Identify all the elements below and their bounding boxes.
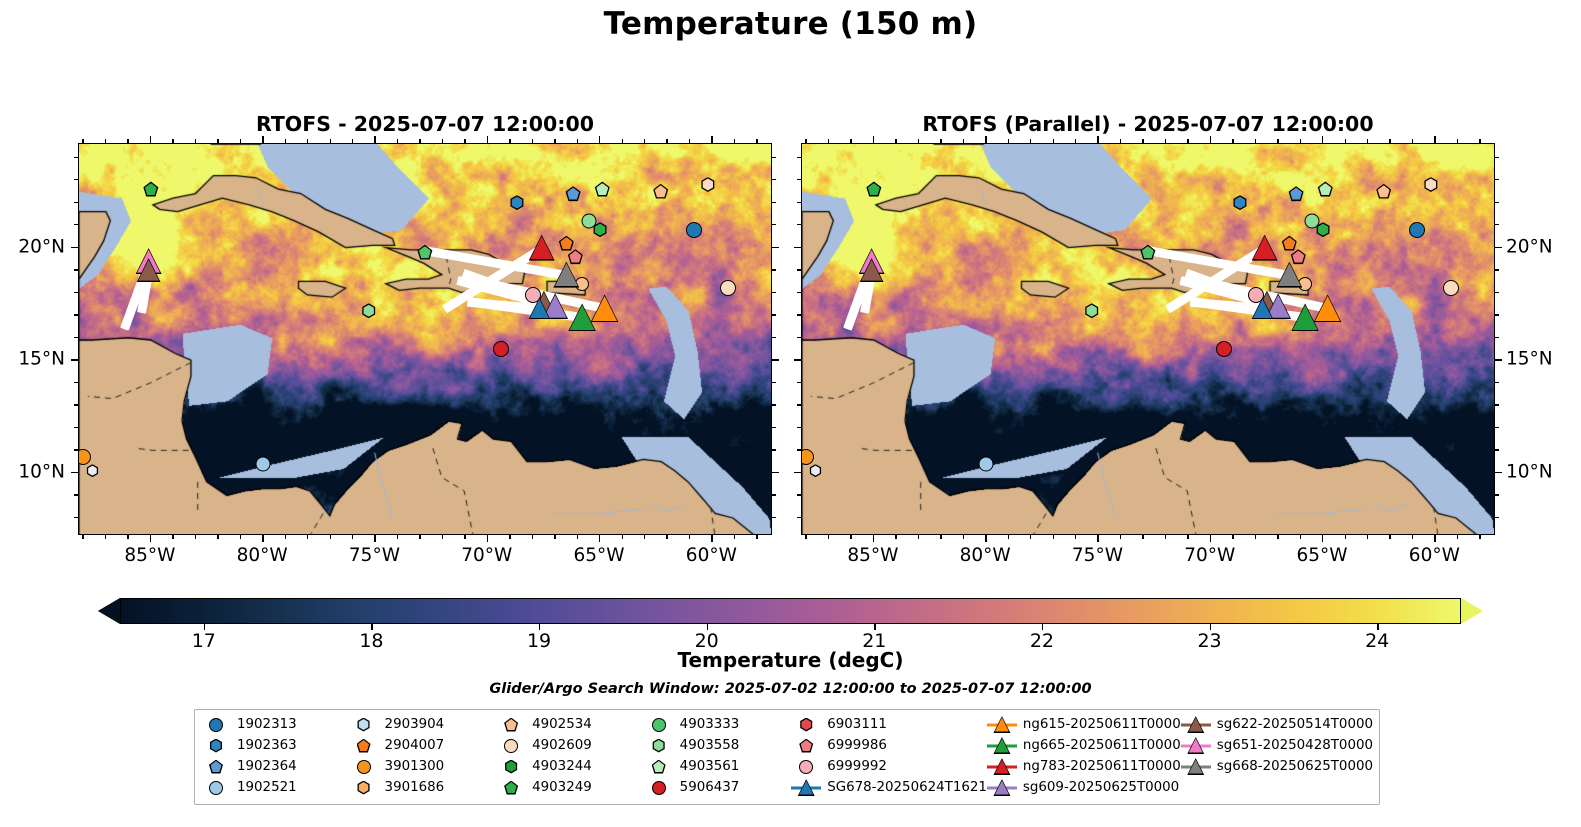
argo-float-marker	[78, 449, 91, 465]
argo-symbol	[644, 778, 674, 798]
ytick-minor-right	[772, 337, 776, 338]
xtick-minor-top	[307, 139, 308, 143]
argo-float-marker	[509, 195, 524, 210]
ytick-minor-left	[797, 269, 801, 270]
xtick-major-top	[985, 136, 986, 143]
ytick-minor-left	[74, 517, 78, 518]
xtick-minor	[963, 535, 964, 539]
ytick-major-right	[772, 359, 779, 360]
legend-box[interactable]: 19023132903904490253449033336903111ng615…	[194, 709, 1380, 805]
legend-entry[interactable]: 1902364	[201, 756, 349, 777]
xtick-label: 65°W	[1297, 545, 1348, 566]
xtick-minor-top	[195, 139, 196, 143]
ytick-minor-right	[1495, 449, 1499, 450]
argo-float-marker	[720, 280, 736, 296]
xtick-minor	[828, 535, 829, 539]
xtick-minor	[1187, 535, 1188, 539]
ytick-minor-left	[74, 224, 78, 225]
legend-entry[interactable]: 4903558	[644, 735, 792, 756]
xtick-label: 80°W	[960, 545, 1011, 566]
ytick-minor-left	[797, 404, 801, 405]
ytick-major-left	[794, 247, 801, 248]
glider-marker	[1314, 294, 1342, 322]
legend-entry[interactable]: sg668-20250625T0000	[1181, 756, 1373, 777]
xtick-minor	[1030, 535, 1031, 539]
xtick-minor	[644, 535, 645, 539]
figure-canvas: Temperature (150 m) RTOFS - 2025-07-07 1…	[0, 0, 1581, 827]
ytick-major-right	[772, 472, 779, 473]
argo-float-marker	[801, 449, 814, 465]
glider-symbol	[791, 778, 821, 798]
xtick-minor	[1142, 535, 1143, 539]
xtick-minor	[419, 535, 420, 539]
legend-entry[interactable]: 4903333	[644, 714, 792, 735]
ytick-minor-left	[797, 449, 801, 450]
xtick-major	[374, 535, 375, 542]
xtick-minor-top	[1187, 139, 1188, 143]
xtick-minor	[940, 535, 941, 539]
glider-marker	[860, 258, 884, 282]
xtick-minor	[689, 535, 690, 539]
xtick-label: 85°W	[124, 545, 175, 566]
legend-label: 6999986	[827, 738, 887, 753]
xtick-label: 60°W	[686, 545, 737, 566]
argo-float-marker	[1232, 195, 1247, 210]
xtick-minor	[1367, 535, 1368, 539]
legend-entry[interactable]: sg609-20250625T0000	[987, 777, 1181, 798]
circle-marker	[652, 781, 666, 795]
argo-float-marker	[809, 464, 822, 477]
triangle-marker	[993, 716, 1010, 733]
xtick-major-top	[1210, 136, 1211, 143]
ytick-label: 10°N	[1506, 461, 1553, 482]
hexagon-marker	[799, 718, 813, 732]
hexagon-marker	[209, 739, 223, 753]
legend-entry[interactable]: 4902534	[496, 714, 644, 735]
argo-symbol	[201, 778, 231, 798]
argo-float-marker	[256, 456, 271, 471]
panel-title-right: RTOFS (Parallel) - 2025-07-07 12:00:00	[801, 112, 1495, 136]
argo-symbol	[349, 715, 379, 735]
glider-marker	[1252, 235, 1278, 261]
xtick-minor-top	[240, 139, 241, 143]
triangle-marker	[993, 737, 1010, 754]
ytick-minor-left	[74, 427, 78, 428]
legend-entry[interactable]: 2904007	[349, 735, 497, 756]
xtick-minor-top	[1300, 139, 1301, 143]
glider-symbol	[987, 715, 1017, 735]
map-panel-rtofs-parallel[interactable]	[801, 143, 1495, 535]
xtick-minor-top	[1120, 139, 1121, 143]
panel-title-left: RTOFS - 2025-07-07 12:00:00	[78, 112, 772, 136]
xtick-major-top	[262, 136, 263, 143]
ytick-minor-right	[1495, 314, 1499, 315]
argo-float-marker	[866, 182, 881, 197]
xtick-major-top	[873, 136, 874, 143]
argo-float-marker	[86, 464, 99, 477]
xtick-label: 70°W	[1184, 545, 1235, 566]
xtick-major	[262, 535, 263, 542]
argo-float-marker	[1376, 184, 1391, 199]
legend-entry[interactable]: 1902521	[201, 777, 349, 798]
xtick-minor	[1120, 535, 1121, 539]
hexagon-marker	[357, 781, 371, 795]
ytick-minor-right	[772, 314, 776, 315]
ytick-minor-left	[74, 292, 78, 293]
ytick-major-left	[71, 247, 78, 248]
argo-symbol	[644, 736, 674, 756]
xtick-minor	[1345, 535, 1346, 539]
glider-marker	[591, 294, 619, 322]
legend-entry[interactable]: 4903561	[644, 756, 792, 777]
legend-entry[interactable]: sg651-20250428T0000	[1181, 735, 1373, 756]
xtick-minor-top	[1345, 139, 1346, 143]
ytick-label: 15°N	[1506, 349, 1553, 370]
ytick-minor-right	[1495, 224, 1499, 225]
legend-entry[interactable]: 4903249	[496, 777, 644, 798]
legend-entry[interactable]: ng783-20250611T0000	[987, 756, 1181, 777]
circle-marker	[799, 760, 813, 774]
ytick-minor-left	[74, 269, 78, 270]
xtick-minor	[622, 535, 623, 539]
ytick-minor-left	[797, 202, 801, 203]
ytick-minor-right	[1495, 179, 1499, 180]
xtick-minor	[756, 535, 757, 539]
xtick-minor-top	[756, 139, 757, 143]
argo-float-marker	[1316, 222, 1331, 237]
xtick-minor	[850, 535, 851, 539]
legend-entry[interactable]: 1902363	[201, 735, 349, 756]
glider-symbol	[987, 736, 1017, 756]
argo-float-marker	[1423, 177, 1438, 192]
xtick-minor-top	[666, 139, 667, 143]
ytick-major-right	[1495, 472, 1502, 473]
legend-empty	[1181, 777, 1373, 798]
xtick-minor	[554, 535, 555, 539]
xtick-minor	[397, 535, 398, 539]
xtick-minor	[105, 535, 106, 539]
xtick-major-top	[599, 136, 600, 143]
legend-entry[interactable]: 1902313	[201, 714, 349, 735]
xtick-minor	[1232, 535, 1233, 539]
ytick-minor-right	[1495, 382, 1499, 383]
xtick-label: 65°W	[574, 545, 625, 566]
legend-label: sg668-20250625T0000	[1217, 759, 1373, 774]
legend-entry[interactable]: 6999992	[791, 756, 987, 777]
xtick-minor-top	[330, 139, 331, 143]
xtick-minor	[464, 535, 465, 539]
legend-label: 1902521	[237, 780, 297, 795]
legend-label: 1902363	[237, 738, 297, 753]
ytick-minor-right	[1495, 404, 1499, 405]
glider-marker	[528, 297, 550, 319]
xtick-minor-top	[1479, 139, 1480, 143]
glider-symbol	[987, 757, 1017, 777]
xtick-minor	[1165, 535, 1166, 539]
xtick-minor-top	[82, 139, 83, 143]
ytick-minor-left	[74, 314, 78, 315]
ytick-minor-left	[797, 224, 801, 225]
ytick-minor-left	[74, 337, 78, 338]
triangle-marker	[993, 758, 1010, 775]
pentagon-marker	[652, 760, 666, 774]
platform-markers-left	[79, 144, 771, 534]
legend-entry[interactable]: 5906437	[644, 777, 792, 798]
ytick-minor-right	[772, 157, 776, 158]
xtick-major-top	[1322, 136, 1323, 143]
xtick-label: 75°W	[349, 545, 400, 566]
legend-grid: 19023132903904490253449033336903111ng615…	[201, 714, 1373, 800]
xtick-minor-top	[352, 139, 353, 143]
glider-symbol	[987, 778, 1017, 798]
ytick-major-right	[772, 247, 779, 248]
ytick-major-left	[71, 359, 78, 360]
legend-label: 5906437	[680, 780, 740, 795]
xtick-minor-top	[105, 139, 106, 143]
ytick-minor-right	[772, 449, 776, 450]
xtick-minor-top	[532, 139, 533, 143]
legend-label: 3901300	[385, 759, 445, 774]
legend-label: ng615-20250611T0000	[1023, 717, 1181, 732]
legend-label: 4903244	[532, 759, 592, 774]
colorbar-title: Temperature (degC)	[0, 648, 1581, 672]
xtick-major	[1434, 535, 1435, 542]
xtick-minor-top	[419, 139, 420, 143]
xtick-major-top	[150, 136, 151, 143]
xtick-major-top	[487, 136, 488, 143]
argo-float-marker	[979, 456, 994, 471]
ytick-minor-right	[772, 404, 776, 405]
ytick-minor-right	[1495, 517, 1499, 518]
xtick-major	[985, 535, 986, 542]
ytick-minor-right	[772, 224, 776, 225]
xtick-minor-top	[644, 139, 645, 143]
xtick-major	[599, 535, 600, 542]
xtick-minor-top	[805, 139, 806, 143]
glider-symbol	[1181, 757, 1211, 777]
colorbar-extend-max	[1461, 598, 1483, 624]
xtick-major	[1097, 535, 1098, 542]
argo-float-marker	[1289, 186, 1304, 201]
xtick-minor-top	[963, 139, 964, 143]
ytick-minor-left	[74, 157, 78, 158]
xtick-minor-top	[1255, 139, 1256, 143]
xtick-minor-top	[828, 139, 829, 143]
legend-entry[interactable]: 6999986	[791, 735, 987, 756]
ytick-minor-right	[1495, 427, 1499, 428]
ytick-minor-left	[74, 179, 78, 180]
legend-entry[interactable]: 2903904	[349, 714, 497, 735]
hexagon-marker	[652, 739, 666, 753]
legend-label: 4903333	[680, 717, 740, 732]
ytick-minor-left	[797, 314, 801, 315]
argo-symbol	[496, 757, 526, 777]
xtick-minor	[1075, 535, 1076, 539]
legend-label: 3901686	[385, 780, 445, 795]
ytick-label: 10°N	[18, 461, 65, 482]
xtick-minor-top	[554, 139, 555, 143]
ytick-label: 20°N	[18, 236, 65, 257]
ytick-minor-right	[1495, 269, 1499, 270]
xtick-major	[150, 535, 151, 542]
circle-marker	[357, 760, 371, 774]
legend-label: 6999992	[827, 759, 887, 774]
argo-symbol	[201, 736, 231, 756]
argo-float-marker	[143, 182, 158, 197]
colorbar-gradient	[120, 598, 1461, 624]
xtick-minor	[666, 535, 667, 539]
xtick-minor	[240, 535, 241, 539]
xtick-minor-top	[172, 139, 173, 143]
xtick-minor-top	[850, 139, 851, 143]
xtick-minor-top	[1142, 139, 1143, 143]
pentagon-marker	[504, 781, 518, 795]
xtick-minor	[1008, 535, 1009, 539]
ytick-minor-right	[1495, 494, 1499, 495]
xtick-minor-top	[918, 139, 919, 143]
xtick-label: 60°W	[1409, 545, 1460, 566]
search-window-subtitle: Glider/Argo Search Window: 2025-07-02 12…	[0, 681, 1581, 697]
argo-float-marker	[1443, 280, 1459, 296]
map-panel-rtofs[interactable]	[78, 143, 772, 535]
ytick-minor-left	[797, 494, 801, 495]
ytick-label: 15°N	[18, 349, 65, 370]
ytick-minor-right	[1495, 157, 1499, 158]
triangle-marker	[798, 779, 815, 796]
argo-symbol	[496, 778, 526, 798]
legend-entry[interactable]: ng615-20250611T0000	[987, 714, 1181, 735]
legend-entry[interactable]: 3901686	[349, 777, 497, 798]
legend-label: 1902364	[237, 759, 297, 774]
xtick-minor-top	[1075, 139, 1076, 143]
xtick-minor	[895, 535, 896, 539]
ytick-minor-left	[797, 292, 801, 293]
xtick-major	[487, 535, 488, 542]
argo-float-marker	[566, 186, 581, 201]
xtick-minor	[82, 535, 83, 539]
triangle-marker	[1187, 758, 1204, 775]
ytick-minor-right	[772, 292, 776, 293]
ytick-minor-left	[797, 517, 801, 518]
figure-title: Temperature (150 m)	[0, 6, 1581, 42]
xtick-minor-top	[1053, 139, 1054, 143]
ytick-minor-right	[772, 427, 776, 428]
xtick-minor	[805, 535, 806, 539]
ytick-minor-right	[1495, 337, 1499, 338]
xtick-minor	[172, 535, 173, 539]
xtick-minor-top	[1232, 139, 1233, 143]
legend-entry[interactable]: sg622-20250514T0000	[1181, 714, 1373, 735]
legend-entry[interactable]: SG678-20250624T1621	[791, 777, 987, 798]
xtick-label: 75°W	[1072, 545, 1123, 566]
circle-marker	[209, 718, 223, 732]
xtick-major	[1322, 535, 1323, 542]
xtick-minor	[1255, 535, 1256, 539]
ytick-minor-left	[74, 202, 78, 203]
xtick-major-top	[1434, 136, 1435, 143]
xtick-minor-top	[1389, 139, 1390, 143]
legend-entry[interactable]: 4903244	[496, 756, 644, 777]
xtick-minor	[442, 535, 443, 539]
argo-symbol	[201, 715, 231, 735]
legend-label: SG678-20250624T1621	[827, 780, 987, 795]
xtick-minor-top	[464, 139, 465, 143]
legend-label: 4903249	[532, 780, 592, 795]
circle-marker	[652, 718, 666, 732]
legend-entry[interactable]: ng665-20250611T0000	[987, 735, 1181, 756]
argo-symbol	[496, 715, 526, 735]
ytick-minor-left	[797, 157, 801, 158]
ytick-minor-right	[772, 517, 776, 518]
ytick-minor-left	[74, 494, 78, 495]
pentagon-marker	[799, 739, 813, 753]
xtick-minor	[1479, 535, 1480, 539]
xtick-minor	[1389, 535, 1390, 539]
ytick-minor-left	[797, 382, 801, 383]
xtick-major-top	[374, 136, 375, 143]
xtick-minor-top	[127, 139, 128, 143]
ytick-major-right	[1495, 359, 1502, 360]
xtick-minor-top	[577, 139, 578, 143]
xtick-minor	[1457, 535, 1458, 539]
argo-float-marker	[1318, 182, 1333, 197]
pentagon-marker	[504, 718, 518, 732]
ytick-major-left	[794, 359, 801, 360]
colorbar: 1718192021222324	[120, 598, 1461, 624]
legend-label: 2903904	[385, 717, 445, 732]
ytick-major-left	[71, 472, 78, 473]
ytick-minor-left	[797, 179, 801, 180]
legend-entry[interactable]: 4902609	[496, 735, 644, 756]
legend-label: 2904007	[385, 738, 445, 753]
legend-label: 4902609	[532, 738, 592, 753]
argo-symbol	[349, 778, 379, 798]
legend-label: sg651-20250428T0000	[1217, 738, 1373, 753]
legend-entry[interactable]: 6903111	[791, 714, 987, 735]
xtick-minor-top	[1008, 139, 1009, 143]
argo-float-marker	[700, 177, 715, 192]
ytick-minor-left	[74, 382, 78, 383]
triangle-marker	[1187, 737, 1204, 754]
xtick-minor	[1412, 535, 1413, 539]
glider-marker	[1276, 262, 1302, 288]
xtick-minor-top	[1412, 139, 1413, 143]
xtick-major	[1210, 535, 1211, 542]
ytick-minor-right	[1495, 202, 1499, 203]
glider-marker	[137, 258, 161, 282]
xtick-major-top	[711, 136, 712, 143]
glider-marker	[553, 262, 579, 288]
legend-label: 4903558	[680, 738, 740, 753]
xtick-label: 85°W	[847, 545, 898, 566]
xtick-minor-top	[397, 139, 398, 143]
argo-symbol	[349, 736, 379, 756]
ytick-minor-left	[797, 427, 801, 428]
ytick-major-right	[1495, 247, 1502, 248]
ytick-label: 20°N	[1506, 236, 1553, 257]
xtick-minor	[195, 535, 196, 539]
ytick-minor-left	[74, 404, 78, 405]
legend-entry[interactable]: 3901300	[349, 756, 497, 777]
argo-float-marker	[1084, 303, 1099, 318]
xtick-minor-top	[285, 139, 286, 143]
circle-marker	[209, 781, 223, 795]
triangle-marker	[993, 779, 1010, 796]
colorbar-extend-min	[98, 598, 120, 624]
glider-symbol	[1181, 715, 1211, 735]
legend-label: ng665-20250611T0000	[1023, 738, 1181, 753]
argo-float-marker	[595, 182, 610, 197]
